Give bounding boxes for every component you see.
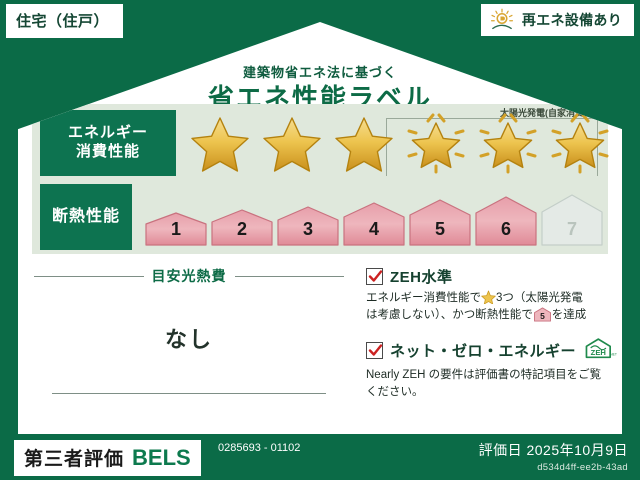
evaluation-date: 評価日 2025年10月9日: [479, 440, 628, 460]
inline-star-icon: [481, 290, 496, 304]
utility-cost-section: 目安光熱費 なし: [34, 266, 344, 416]
label-card: 建築物省エネ法に基づく 省エネ性能ラベル エネルギー 消費性能 太陽光発電(自家…: [18, 22, 622, 434]
insulation-level-5: 5: [408, 199, 472, 246]
svg-text:5: 5: [540, 311, 545, 321]
zeh-net-zero-item: ネット・ゼロ・エネルギー ZEH NET Nearly ZEH の要件は評価書の…: [366, 337, 610, 402]
zeh-standard-checkbox[interactable]: [366, 268, 383, 285]
energy-label-line2: 消費性能: [76, 143, 140, 162]
insulation-levels: 1 2 3: [132, 188, 604, 246]
zeh-standard-item: ZEH水準 エネルギー消費性能で3つ（太陽光発電 は考慮しない）、かつ断熱性能で…: [366, 266, 610, 325]
zeh-desc-part1: エネルギー消費性能で: [366, 292, 481, 304]
star-5-solar: [474, 112, 542, 174]
utility-cost-bottom-rule: [52, 393, 326, 394]
insulation-performance-row: 断熱性能 1: [36, 182, 604, 252]
sun-icon: [489, 8, 515, 32]
insulation-level-1-num: 1: [144, 219, 208, 240]
insulation-level-1: 1: [144, 212, 208, 246]
insulation-performance-label: 断熱性能: [40, 184, 132, 250]
energy-performance-label: エネルギー 消費性能: [40, 110, 176, 176]
star-4-solar: [402, 112, 470, 174]
heading-rule-right: [235, 276, 345, 277]
zeh-desc-part3: を達成: [552, 309, 587, 321]
stars-row: [186, 112, 614, 174]
bels-evaluation-box: 第三者評価 BELS: [14, 440, 201, 476]
insulation-level-7: 7: [540, 194, 604, 246]
star-2: [258, 112, 326, 174]
insulation-level-7-num: 7: [540, 219, 604, 240]
zeh-standard-title-row: ZEH水準: [366, 266, 610, 287]
insulation-level-2-num: 2: [210, 219, 274, 240]
bels-en-label: BELS: [132, 445, 191, 471]
performance-block: エネルギー 消費性能 太陽光発電(自家消費)分: [32, 104, 608, 254]
zeh-net-zero-title: ネット・ゼロ・エネルギー: [390, 340, 576, 361]
zeh-standard-title: ZEH水準: [390, 266, 453, 287]
housing-type-tag: 住宅（住戸）: [6, 4, 123, 38]
star-1: [186, 112, 254, 174]
check-icon: [368, 269, 383, 284]
utility-cost-heading-text: 目安光熱費: [152, 266, 227, 286]
insulation-level-6-num: 6: [474, 219, 538, 240]
insulation-level-4-num: 4: [342, 219, 406, 240]
utility-cost-heading: 目安光熱費: [34, 266, 344, 286]
zeh-net-zero-title-row: ネット・ゼロ・エネルギー ZEH NET: [366, 337, 610, 364]
energy-label-line1: エネルギー: [68, 124, 148, 143]
insulation-level-3-num: 3: [276, 219, 340, 240]
bels-jp-label: 第三者評価: [24, 444, 124, 471]
zeh-net-zero-desc: Nearly ZEH の要件は評価書の特記項目をご覧ください。: [366, 367, 610, 402]
evaluation-id: d534d4ff-ee2b-43ad: [479, 462, 628, 473]
insulation-level-2: 2: [210, 209, 274, 246]
zeh-desc-star-count: 3つ（太陽光発電: [496, 292, 583, 304]
renewable-badge-label: 再エネ設備あり: [522, 10, 622, 30]
insulation-label-text: 断熱性能: [52, 207, 120, 227]
insulation-level-3: 3: [276, 206, 340, 246]
energy-stars-area: 太陽光発電(自家消費)分: [176, 108, 604, 178]
star-3: [330, 112, 398, 174]
check-icon: [368, 343, 383, 358]
svg-text:ZEH: ZEH: [591, 347, 606, 356]
zeh-net-zero-checkbox[interactable]: [366, 342, 383, 359]
heading-rule-left: [34, 276, 144, 277]
zeh-standard-desc: エネルギー消費性能で3つ（太陽光発電 は考慮しない）、かつ断熱性能で5を達成: [366, 290, 610, 325]
footer: 第三者評価 BELS 0285693 - 01102 評価日 2025年10月9…: [0, 434, 640, 480]
insulation-level-6: 6: [474, 196, 538, 246]
evaluation-info: 評価日 2025年10月9日 d534d4ff-ee2b-43ad: [479, 440, 628, 473]
insulation-level-4: 4: [342, 202, 406, 246]
zeh-house-logo-icon: ZEH NET: [583, 337, 617, 364]
zeh-section: ZEH水準 エネルギー消費性能で3つ（太陽光発電 は考慮しない）、かつ断熱性能で…: [366, 266, 610, 413]
inline-house-icon: 5: [533, 307, 552, 322]
utility-cost-value: なし: [34, 322, 344, 354]
bels-number: 0285693 - 01102: [218, 442, 338, 456]
star-6-solar: [546, 112, 614, 174]
svg-text:NET: NET: [610, 352, 617, 356]
zeh-desc-part2: は考慮しない）、かつ断熱性能で: [366, 309, 533, 321]
bels-energy-label: 住宅（住戸） 再エネ設備あり 建築物省エネ: [0, 0, 640, 480]
energy-performance-row: エネルギー 消費性能 太陽光発電(自家消費)分: [36, 108, 604, 178]
renewable-energy-badge: 再エネ設備あり: [481, 4, 634, 36]
insulation-level-5-num: 5: [408, 219, 472, 240]
